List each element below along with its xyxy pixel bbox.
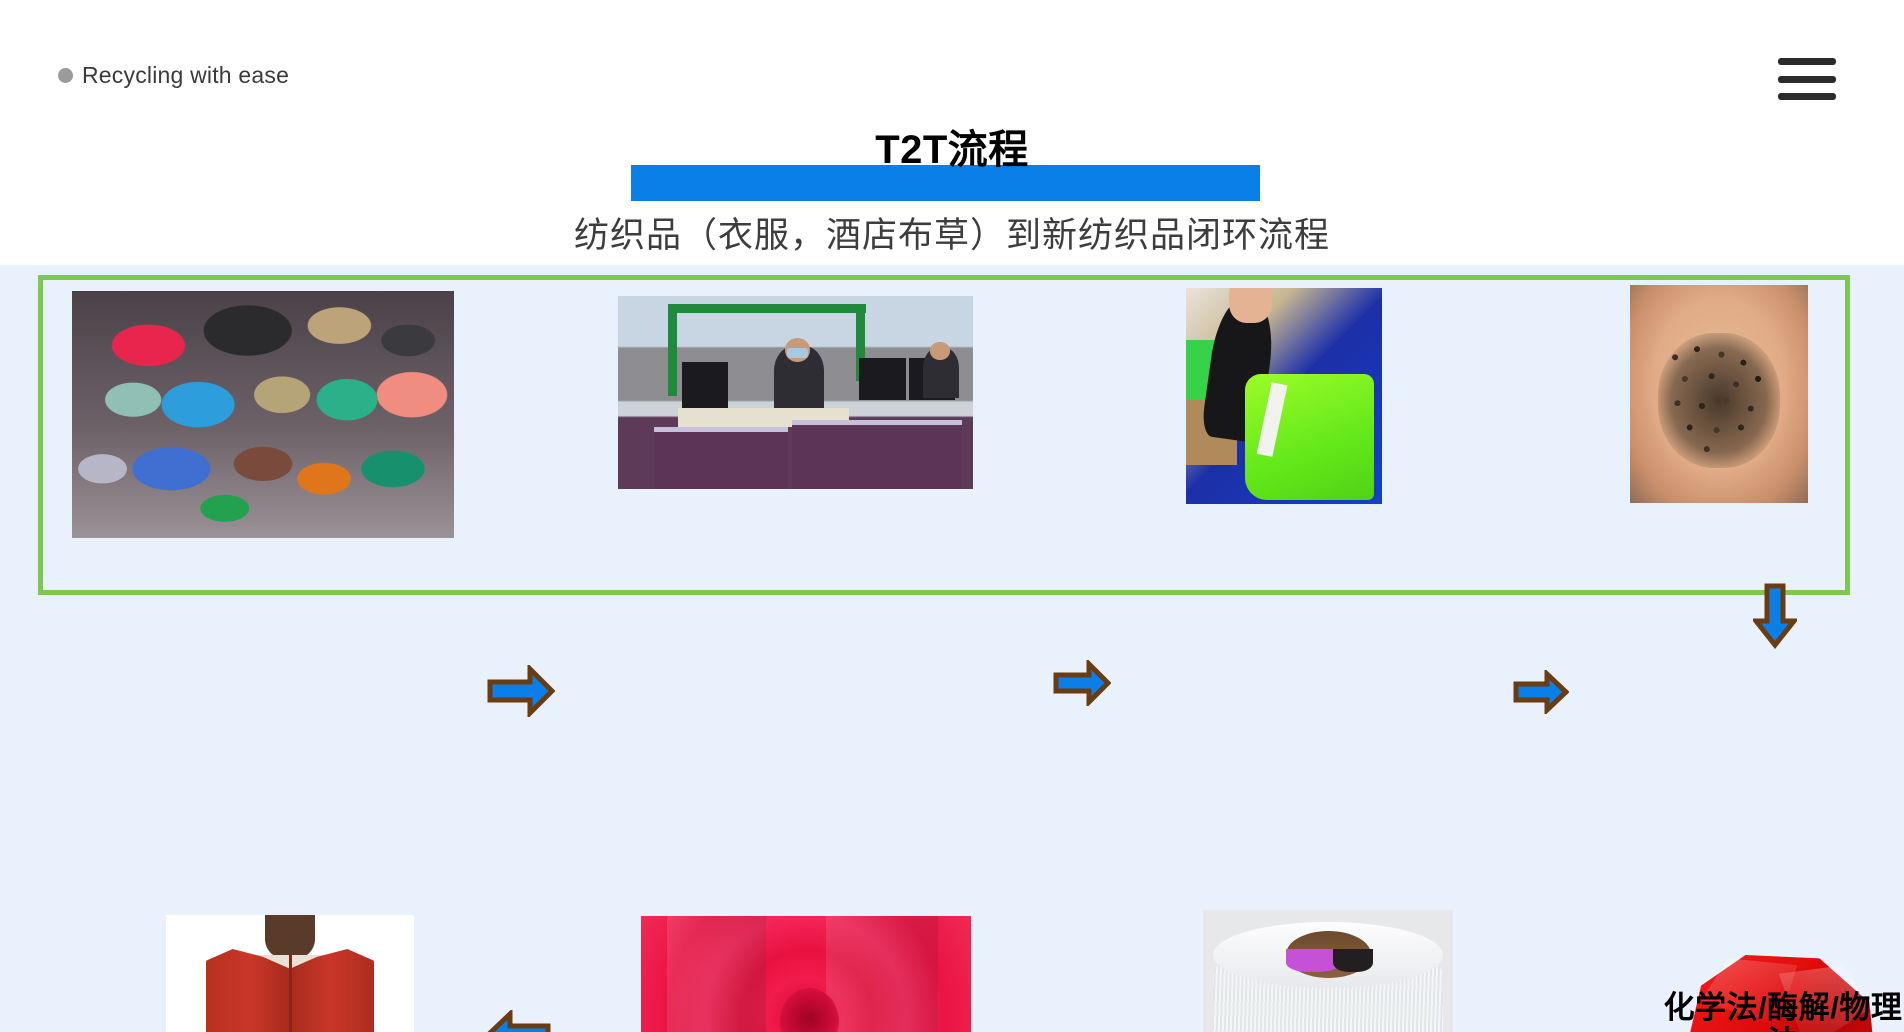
recycled-filament-yarn-spool-photo [1203,910,1453,1032]
brand-logo[interactable]: Recycling with ease [58,62,289,89]
monitor-1 [682,362,728,412]
monitor-2 [859,358,905,400]
hand-arm [1229,288,1272,323]
diagram-canvas: 化学法/酶解/物理法 [0,265,1904,1032]
hamburger-bar-3 [1778,93,1836,100]
model-head [265,915,315,960]
arrow-down-1 [1753,583,1797,649]
page-header: Recycling with ease T2T流程 纺织品（衣服，酒店布草）到新… [0,0,1904,265]
spool-black-band [1333,949,1373,972]
red-fleece-jacket-photo [166,915,414,1032]
sorting-bin-2 [792,420,962,489]
title-block: T2T流程 [0,128,1904,173]
green-rig-beam [668,304,867,314]
worker-1-mask [787,348,808,358]
hamburger-bar-1 [1778,58,1836,65]
process-method-label: 化学法/酶解/物理法 [1654,991,1904,1032]
slide-root: Recycling with ease T2T流程 纺织品（衣服，酒店布草）到新… [0,0,1904,1032]
arrow-right-2 [1053,660,1111,706]
brand-name: Recycling with ease [82,62,289,89]
arrow-left-3 [485,1010,551,1032]
garment-label-removal-photo [1186,288,1382,504]
red-knit-fabric-photo [641,916,971,1032]
green-rig-post-left [668,304,677,397]
hamburger-menu-icon[interactable] [1778,58,1836,100]
page-title: T2T流程 [0,128,1904,173]
pellet-cluster [1658,333,1779,468]
arrow-right-3 [1513,670,1569,714]
sorting-bin-1 [654,427,789,489]
fabric-fold-right [826,916,938,1032]
hamburger-bar-2 [1778,76,1836,83]
jacket-zipper [289,955,292,1032]
worker-2-head [930,342,950,359]
page-subtitle: 纺织品（衣服，酒店布草）到新纺织品闭环流程 [0,207,1904,258]
recycled-polymer-pellets-photo [1630,285,1808,503]
sorting-facility-photo [618,296,973,489]
fabric-fold-left [667,916,766,1032]
process-method-node[interactable]: 化学法/酶解/物理法 [1690,955,1875,1032]
arrow-right-1 [487,665,555,717]
brand-dot-icon [58,68,73,83]
textile-waste-pile-photo [72,291,454,538]
